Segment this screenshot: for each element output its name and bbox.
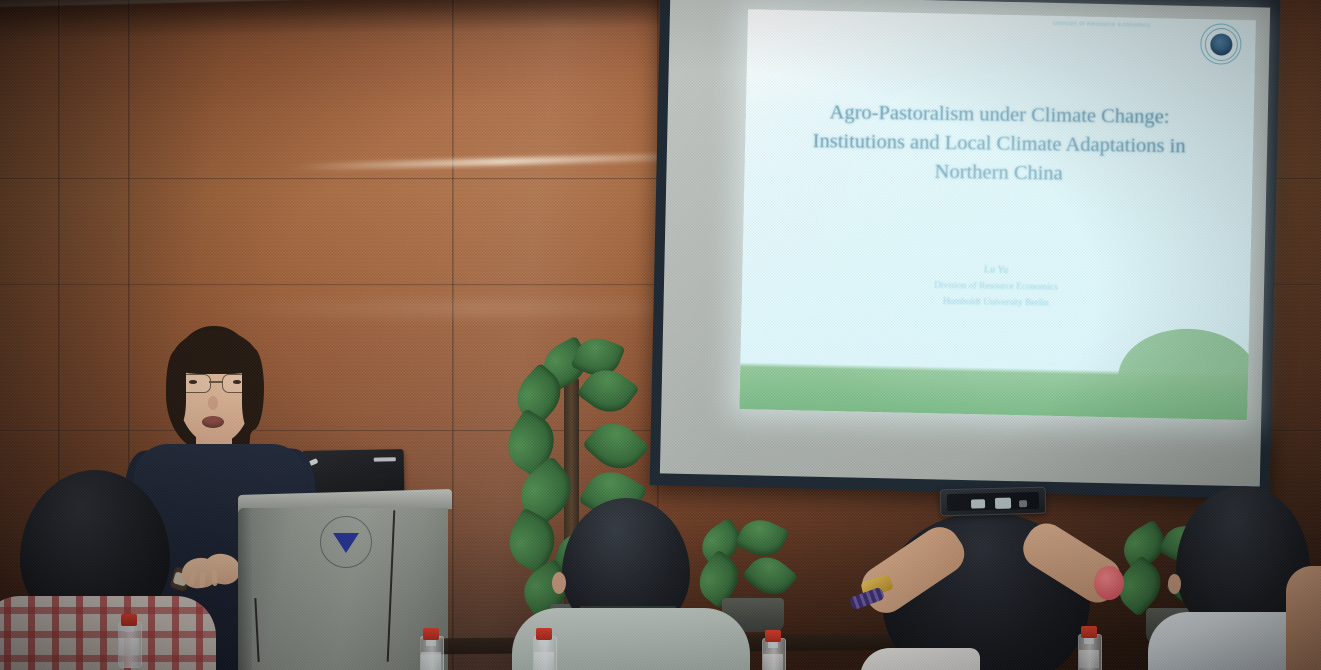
water-bottle [762,630,784,670]
wall-seam-vertical [452,0,455,670]
lectern-left-edge [238,508,252,670]
screen-surface: Division of Resource Economics Agro-Past… [660,0,1270,486]
slide-header-label: Division of Resource Economics [1053,21,1151,29]
water-bottle [420,628,442,670]
plaid-shirt [0,596,216,670]
presenter-mouth [202,416,224,428]
photographer-shoulder [860,648,980,670]
slide-author-block: Lu Yu Division of Resource Economics Hum… [768,259,1225,314]
projected-slide: Division of Resource Economics Agro-Past… [739,9,1256,420]
slide-title: Agro-Pastoralism under Climate Change: I… [771,98,1228,191]
presenter-hair-right [242,348,264,430]
audience-ear [1168,574,1181,594]
university-seal-icon [1200,23,1242,65]
conference-photo: Division of Resource Economics Agro-Past… [0,0,1321,670]
projection-screen: Division of Resource Economics Agro-Past… [650,0,1281,499]
audience-ear [552,572,566,594]
presenter-nose [208,396,218,410]
smartphone[interactable] [940,487,1047,517]
laptop-brand-logo [374,457,396,461]
hair-scrunchie [1094,566,1124,600]
slide-graphic-green-band [739,362,1248,420]
presenter-hair-left [166,350,186,426]
audience-member-far-right-arm [1286,566,1321,670]
water-bottle [1078,626,1100,670]
institution-crest-icon [320,516,372,568]
audience-member-left [0,470,232,670]
water-bottle [118,614,140,668]
water-bottle [533,628,555,670]
smartphone-screen [947,492,1039,511]
